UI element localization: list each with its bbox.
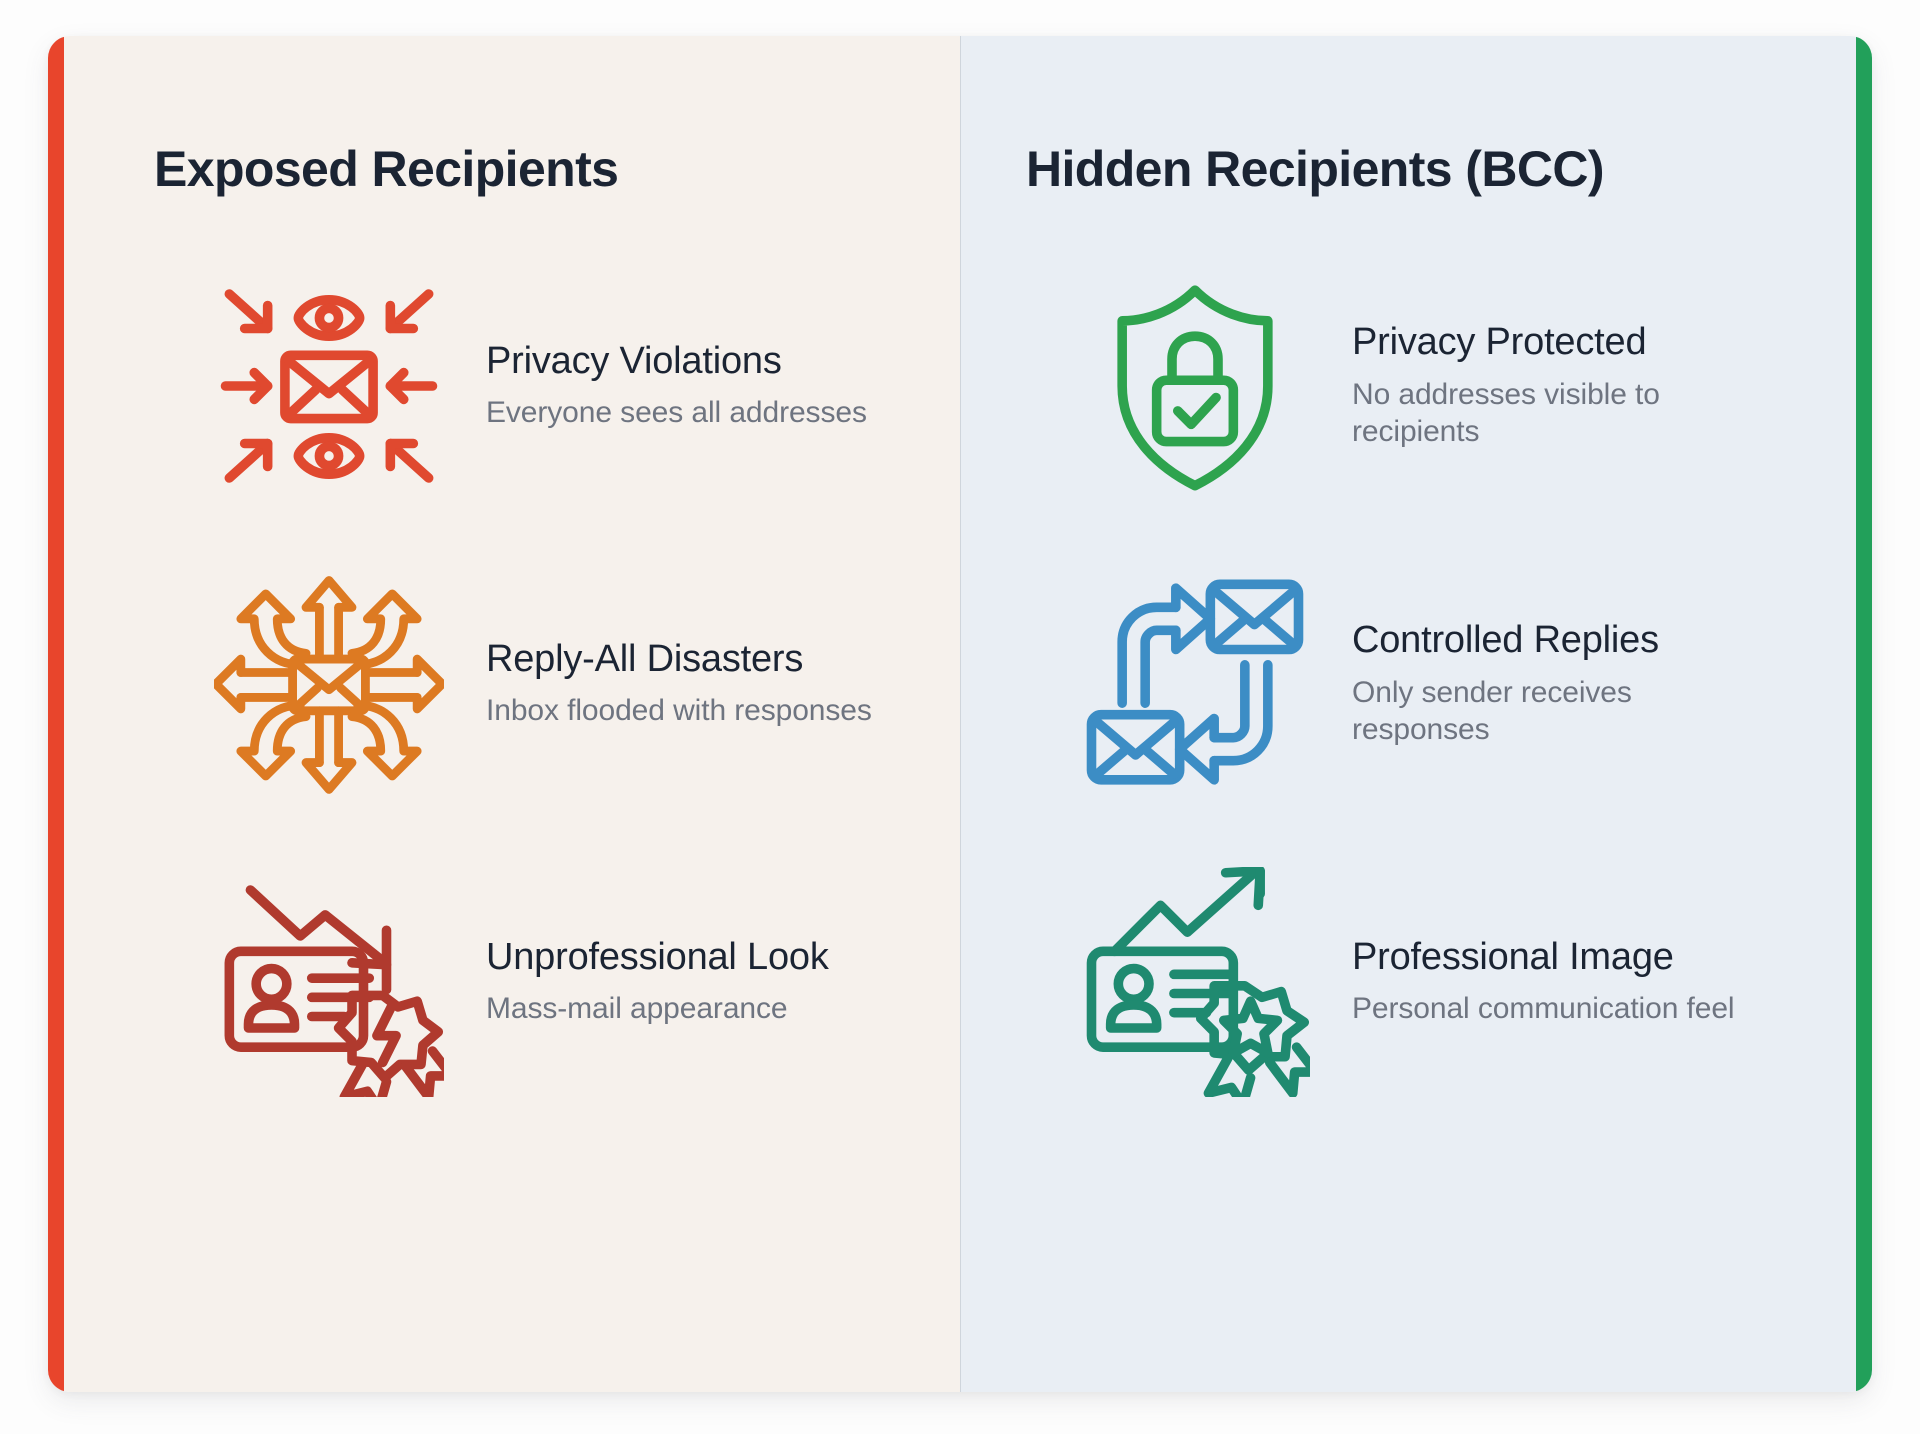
envelope-radiating-arrows-icon	[214, 569, 444, 799]
feature-description: Mass-mail appearance	[486, 991, 886, 1028]
feature-text-block: Professional Image Personal communicatio…	[1352, 936, 1752, 1028]
feature-privacy-protected: Privacy Protected No addresses visible t…	[1080, 271, 1856, 501]
right-panel-title: Hidden Recipients (BCC)	[960, 142, 1856, 197]
id-card-rising-trend-award-icon	[1080, 867, 1310, 1097]
left-feature-list: Privacy Violations Everyone sees all add…	[64, 271, 960, 1097]
feature-text-block: Controlled Replies Only sender receives …	[1352, 619, 1752, 748]
feature-text-block: Privacy Violations Everyone sees all add…	[486, 340, 886, 432]
feature-title: Privacy Protected	[1352, 321, 1752, 364]
feature-description: Only sender receives responses	[1352, 675, 1752, 749]
hidden-recipients-panel: Hidden Recipients (BCC) Privacy Protecte…	[960, 36, 1856, 1392]
feature-reply-all-disasters: Reply-All Disasters Inbox flooded with r…	[214, 569, 960, 799]
bcc-comparison-card: Exposed Recipients	[48, 36, 1872, 1392]
left-panel-title: Exposed Recipients	[64, 142, 960, 197]
feature-title: Reply-All Disasters	[486, 638, 886, 681]
infographic-canvas: Exposed Recipients	[0, 0, 1920, 1434]
exposed-recipients-panel: Exposed Recipients	[64, 36, 960, 1392]
feature-text-block: Reply-All Disasters Inbox flooded with r…	[486, 638, 886, 730]
feature-text-block: Unprofessional Look Mass-mail appearance	[486, 936, 886, 1028]
feature-privacy-violations: Privacy Violations Everyone sees all add…	[214, 271, 960, 501]
feature-unprofessional-look: Unprofessional Look Mass-mail appearance	[214, 867, 960, 1097]
feature-title: Controlled Replies	[1352, 619, 1752, 662]
feature-description: Personal communication feel	[1352, 991, 1752, 1028]
feature-description: Inbox flooded with responses	[486, 693, 886, 730]
id-card-declining-trend-broken-award-icon	[214, 867, 444, 1097]
feature-text-block: Privacy Protected No addresses visible t…	[1352, 321, 1752, 450]
feature-title: Professional Image	[1352, 936, 1752, 979]
envelope-with-watching-eyes-icon	[214, 271, 444, 501]
two-envelopes-cycle-arrows-icon	[1080, 569, 1310, 799]
right-feature-list: Privacy Protected No addresses visible t…	[960, 271, 1856, 1097]
feature-professional-image: Professional Image Personal communicatio…	[1080, 867, 1856, 1097]
left-accent-bar	[48, 36, 64, 1392]
shield-lock-check-icon	[1080, 271, 1310, 501]
feature-title: Privacy Violations	[486, 340, 886, 383]
right-accent-bar	[1856, 36, 1872, 1392]
feature-title: Unprofessional Look	[486, 936, 886, 979]
feature-description: No addresses visible to recipients	[1352, 377, 1752, 451]
feature-description: Everyone sees all addresses	[486, 395, 886, 432]
feature-controlled-replies: Controlled Replies Only sender receives …	[1080, 569, 1856, 799]
